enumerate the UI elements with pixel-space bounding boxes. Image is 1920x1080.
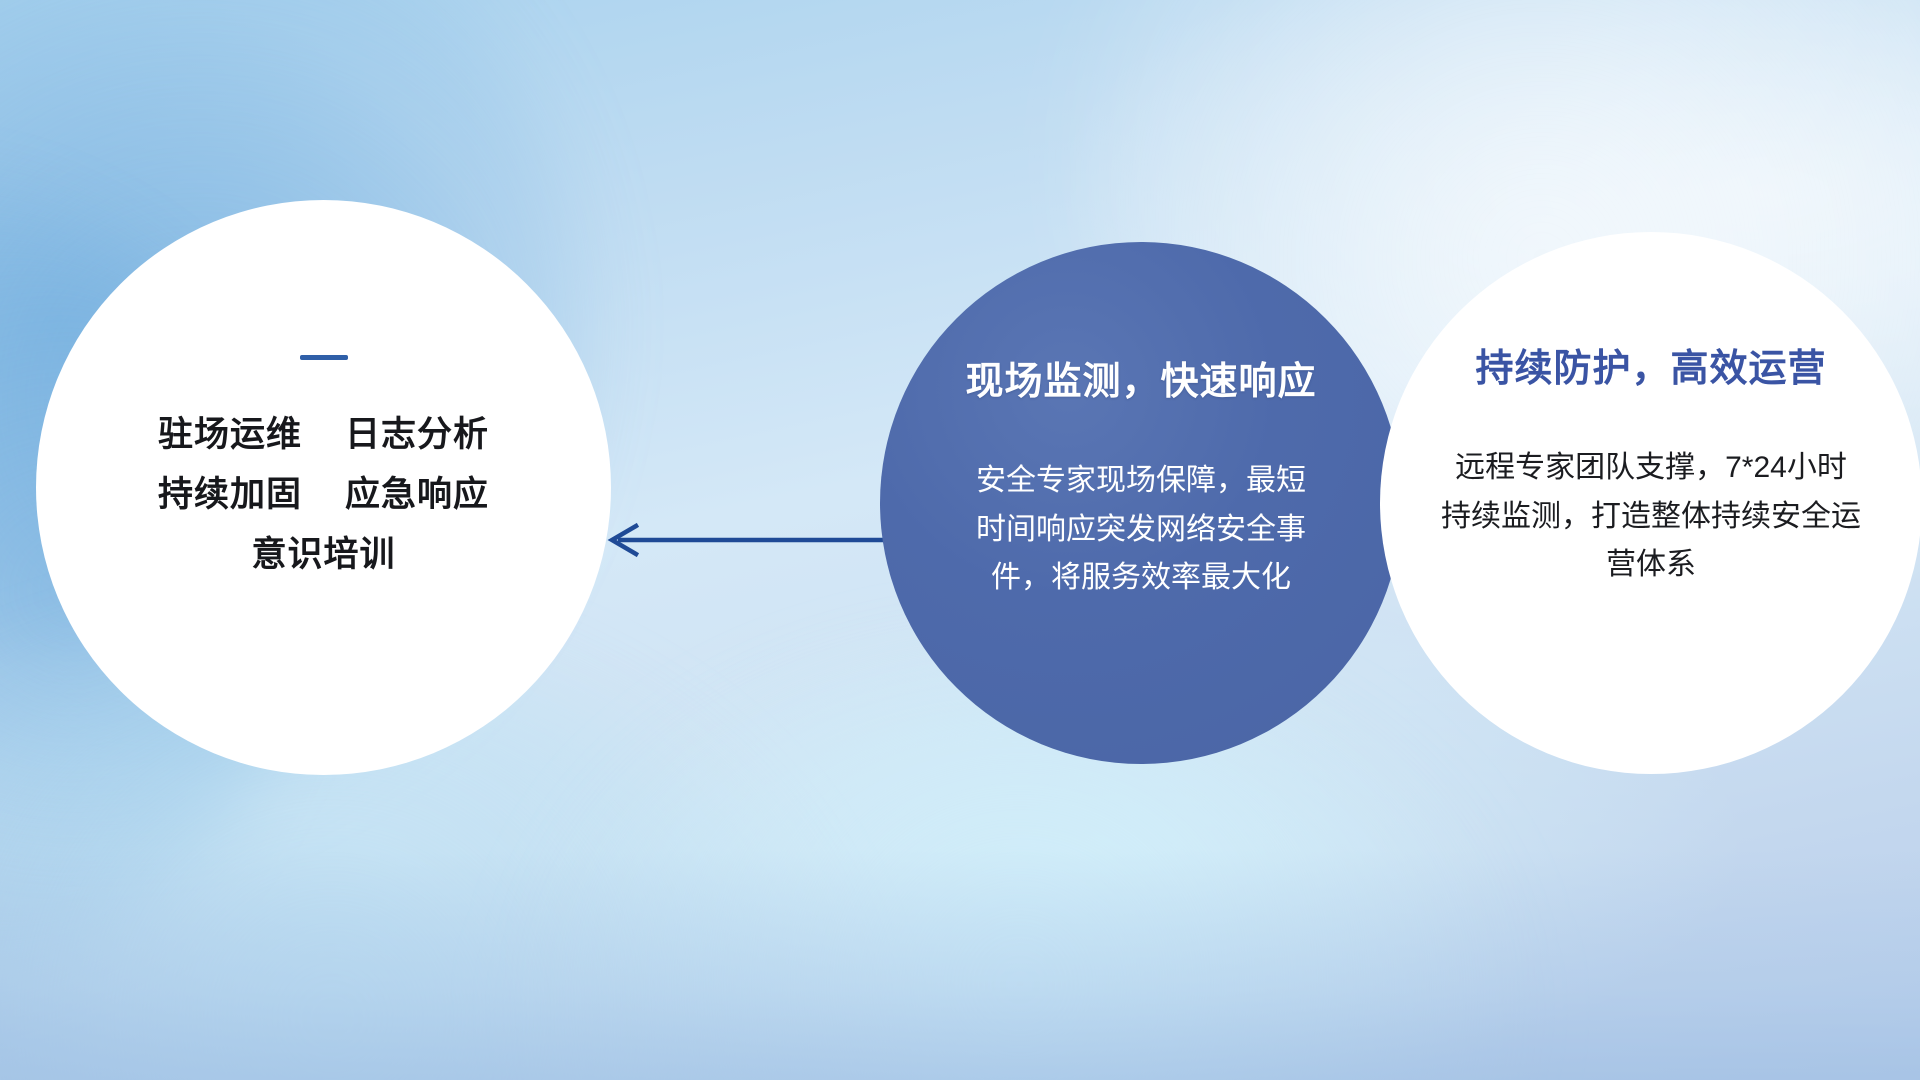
dash-divider-icon [300, 355, 348, 360]
right-circle-title: 持续防护，高效运营 [1475, 337, 1826, 392]
middle-circle-body: 安全专家现场保障，最短时间响应突发网络安全事件，将服务效率最大化 [976, 457, 1306, 603]
middle-circle-title: 现场监测，快速响应 [965, 350, 1316, 405]
list-item: 持续加固 应急响应 [158, 465, 489, 525]
left-service-circle: 驻场运维 日志分析 持续加固 应急响应 意识培训 [36, 200, 611, 775]
right-continuous-circle: 持续防护，高效运营 远程专家团队支撑，7*24小时持续监测，打造整体持续安全运营… [1380, 232, 1920, 774]
middle-onsite-circle: 现场监测，快速响应 安全专家现场保障，最短时间响应突发网络安全事件，将服务效率最… [880, 242, 1402, 764]
list-item: 意识培训 [158, 525, 489, 585]
list-item: 驻场运维 日志分析 [158, 405, 489, 465]
left-arrow-icon [600, 520, 890, 560]
left-circle-keyword-list: 驻场运维 日志分析 持续加固 应急响应 意识培训 [158, 405, 489, 586]
right-circle-body: 远程专家团队支撑，7*24小时持续监测，打造整体持续安全运营体系 [1441, 444, 1861, 590]
background-bottom-band [0, 850, 1920, 1080]
